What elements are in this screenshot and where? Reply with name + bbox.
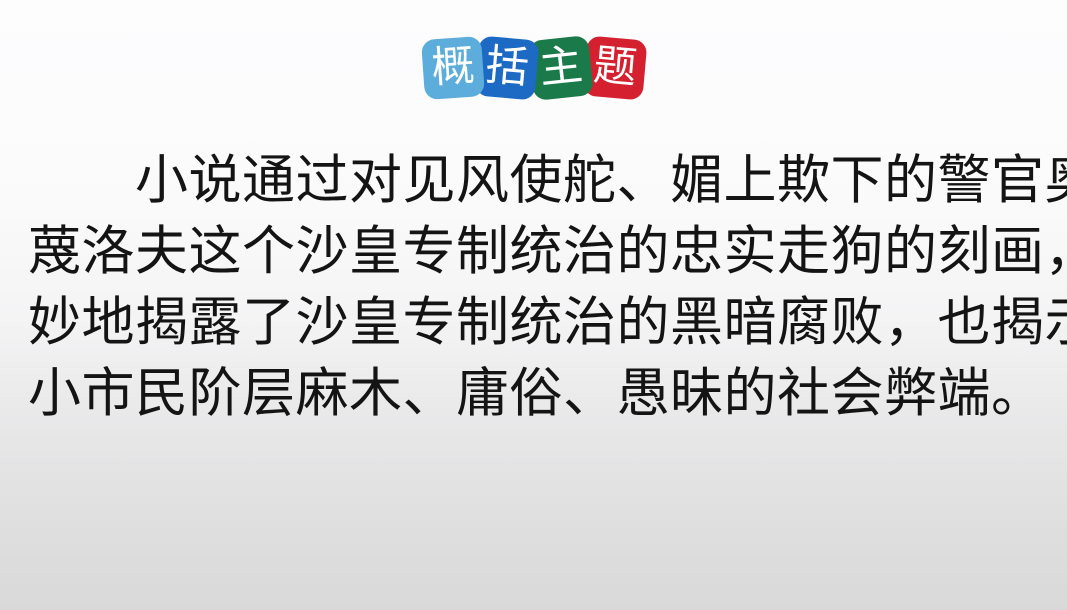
slide-canvas: 概 括 主 题 小说通过对见风使舵、媚上欺下的警官奥楚 蔑洛夫这个沙皇专制统治的… (0, 0, 1067, 610)
title-tile-3-char: 主 (537, 43, 584, 90)
paragraph-line-1: 小说通过对见风使舵、媚上欺下的警官奥楚 (28, 146, 1040, 217)
title-tile-2-char: 括 (483, 44, 530, 91)
title-tile-4: 题 (582, 35, 647, 100)
title-tile-4-char: 题 (591, 44, 638, 91)
title-banner: 概 括 主 题 (0, 24, 1067, 112)
paragraph-line-4: 小市民阶层麻木、庸俗、愚昧的社会弊端。 (28, 359, 1040, 430)
title-tile-1-char: 概 (429, 44, 475, 90)
title-tile-1: 概 (420, 36, 484, 100)
title-tile-3: 主 (528, 35, 594, 101)
paragraph-line-2: 蔑洛夫这个沙皇专制统治的忠实走狗的刻画，巧 (28, 217, 1040, 288)
title-tile-2: 括 (474, 35, 539, 100)
paragraph-line-3: 妙地揭露了沙皇专制统治的黑暗腐败，也揭示了 (28, 288, 1040, 359)
summary-paragraph: 小说通过对见风使舵、媚上欺下的警官奥楚 蔑洛夫这个沙皇专制统治的忠实走狗的刻画，… (28, 146, 1040, 430)
